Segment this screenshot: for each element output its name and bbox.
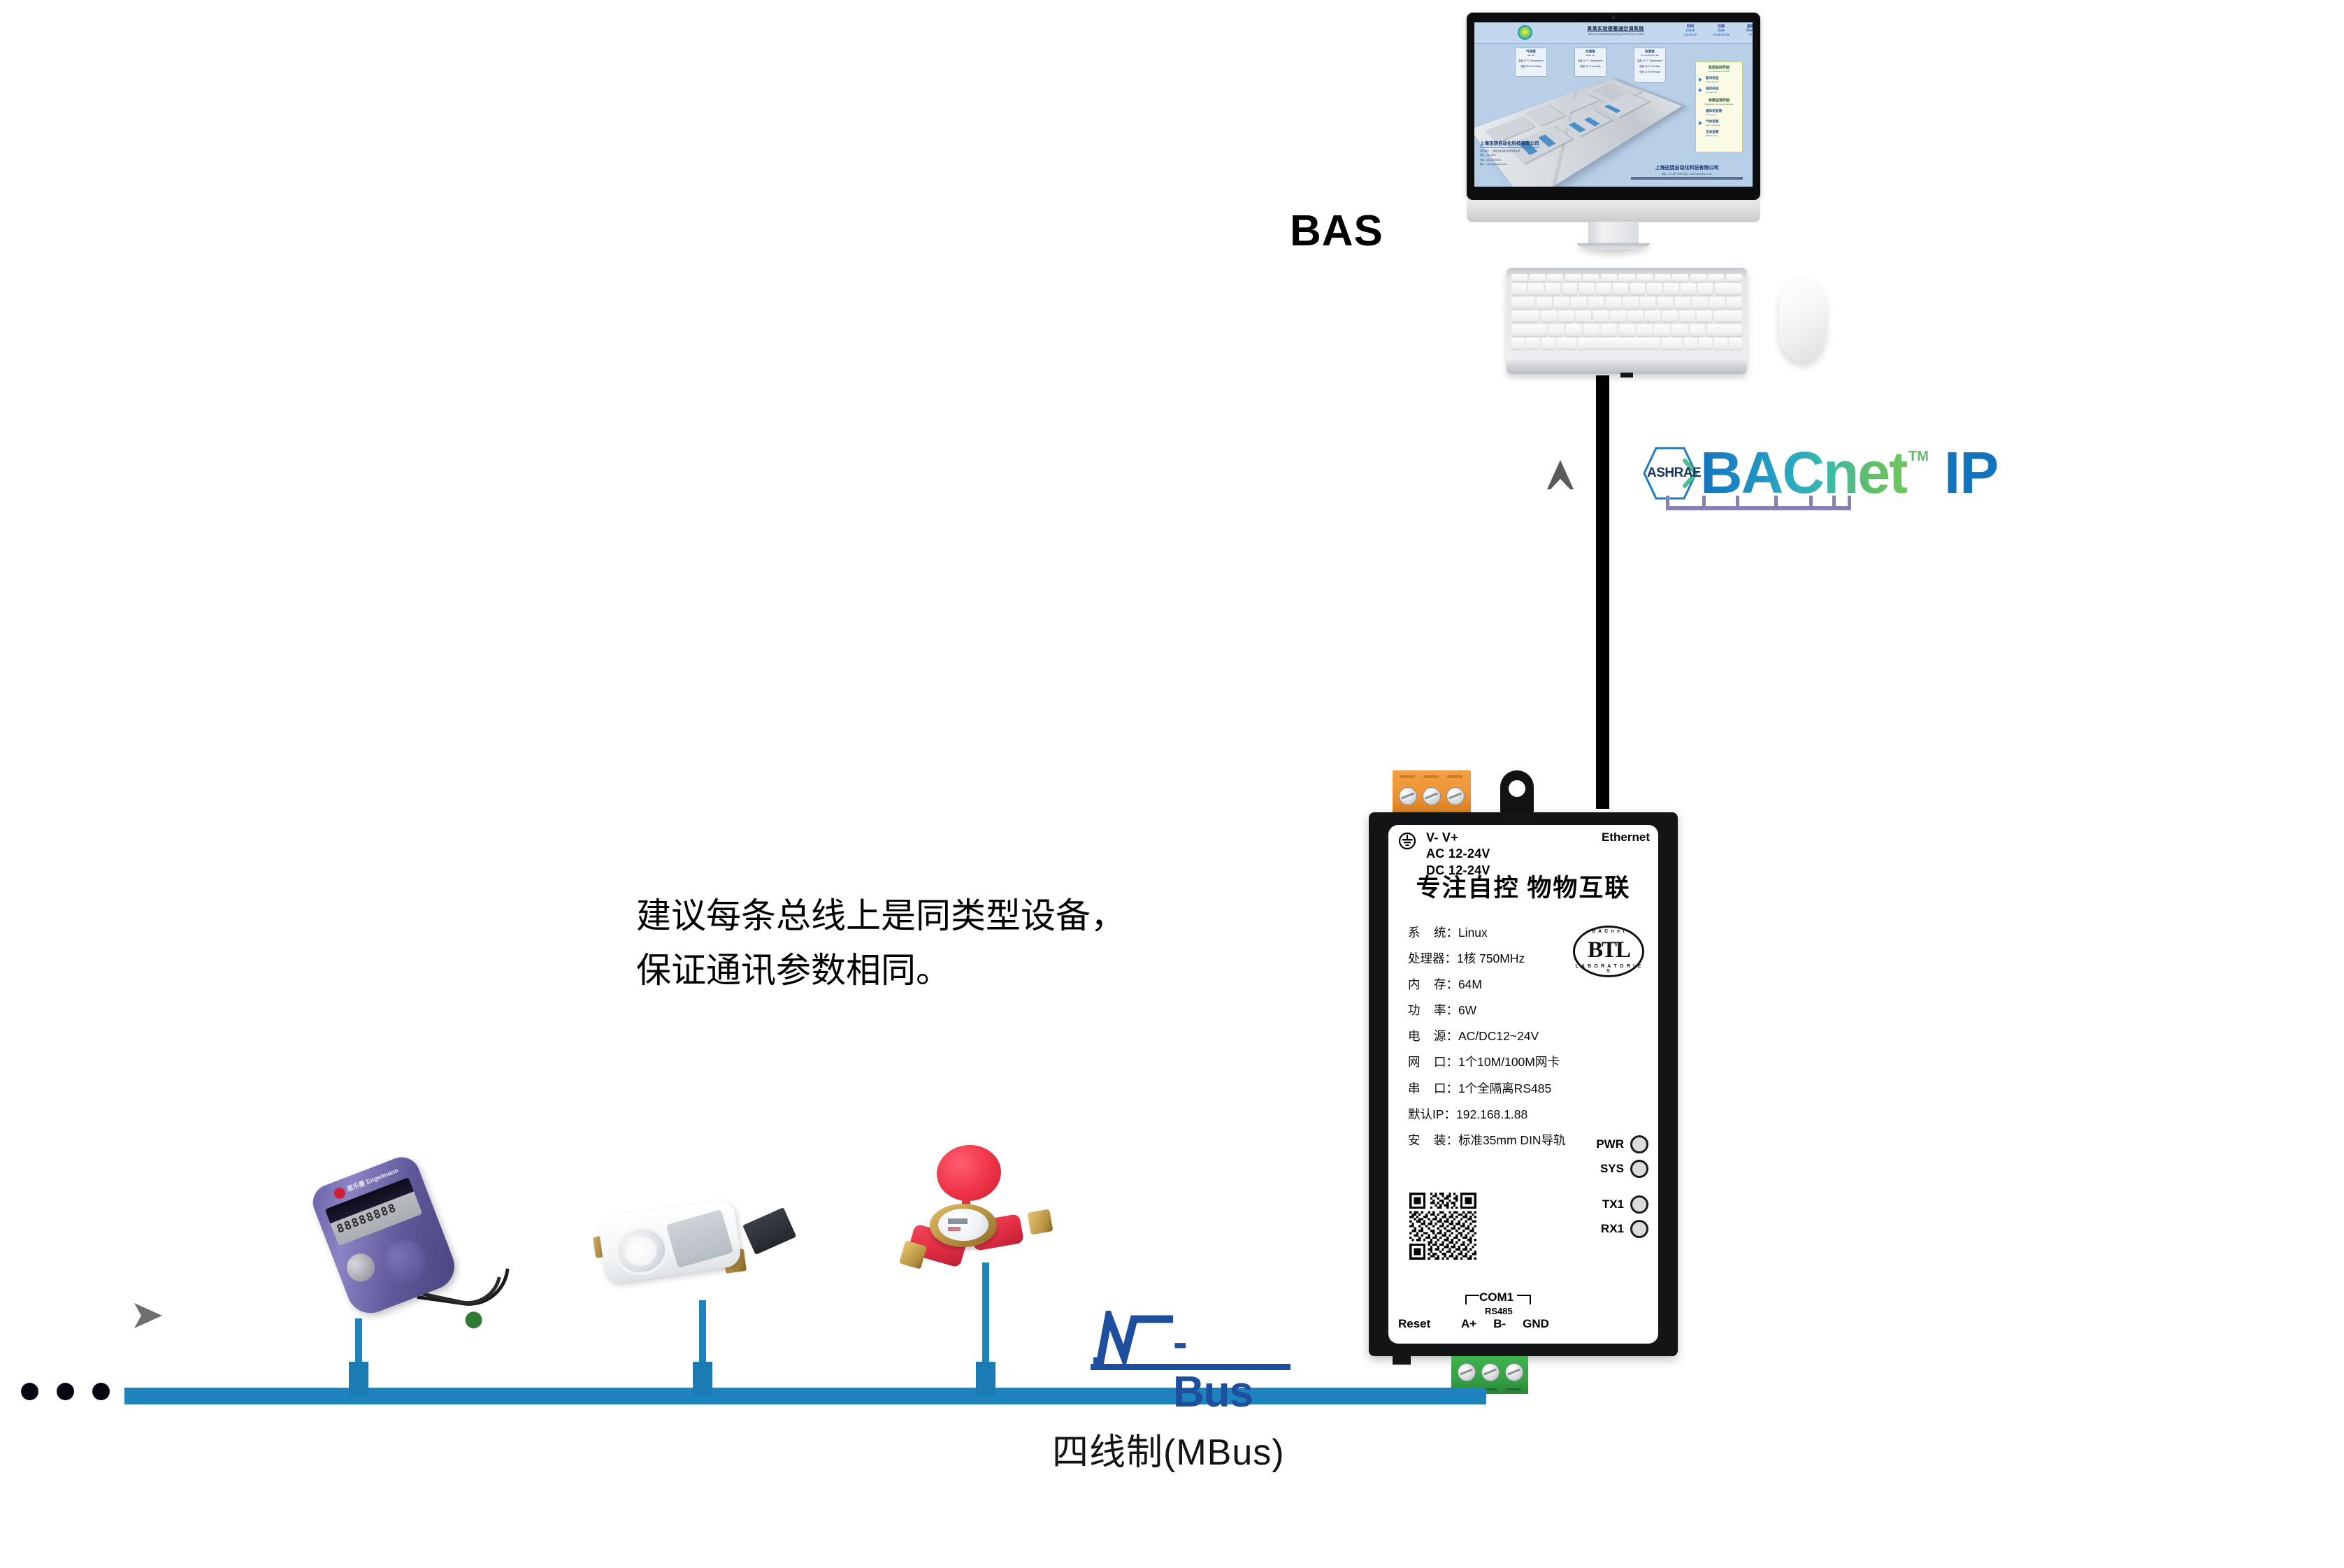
nav-item-sublabel: Baffles tanks	[1706, 134, 1742, 137]
sensor-box-reading: 温度 25 ℃ Temperature	[1516, 59, 1546, 62]
key[interactable]	[1671, 324, 1688, 336]
monitor-screen: 某某实验楼暖通空调系统 Nasn QC laboratory building …	[1474, 22, 1753, 187]
bus-continuation-ellipsis	[21, 1383, 110, 1400]
keyboard-row-shift[interactable]	[1511, 324, 1742, 336]
sensor-box-reading: 湿度 48 % Humidity	[1516, 64, 1546, 68]
nav-section-subtitle: Unit monitoring interface	[1696, 70, 1742, 73]
hmi-footer-line: 设计单位：上海迅饶自动化科技有限公司	[1480, 149, 1539, 152]
hmi-clock-week: 星期 Week 六	[1734, 24, 1753, 37]
terminal-screw-b[interactable]	[1481, 1363, 1500, 1381]
sensor-box-reading: 温度 25 ℃ Temperature	[1634, 59, 1665, 62]
water-meter-dial-face	[621, 1233, 661, 1270]
key[interactable]	[1726, 274, 1742, 282]
key[interactable]	[1545, 283, 1560, 295]
nav-item-fume-hood[interactable]: 通风柜监测 Fume hood	[1696, 109, 1742, 116]
key-arrow-updown[interactable]	[1714, 338, 1727, 350]
heat-meter-lcd-digits: 88888888	[335, 1201, 398, 1237]
heat-meter-button-green[interactable]	[463, 1309, 484, 1331]
key[interactable]	[1562, 283, 1578, 295]
btl-center-text: BTL	[1575, 937, 1642, 963]
key[interactable]	[1645, 310, 1660, 322]
key[interactable]	[1541, 310, 1557, 322]
bus-drop-water	[699, 1300, 706, 1370]
hmi-footer-left: 上海迅饶自动化科技有限公司 设计单位：上海迅饶自动化科技有限公司 电话：021-…	[1480, 139, 1539, 166]
hot-meter-brass-ring	[930, 1204, 997, 1247]
triangle-right-icon	[1699, 88, 1702, 92]
led-label-pwr: PWR	[1596, 1137, 1624, 1151]
key-shift-right[interactable]	[1707, 324, 1742, 336]
gateway-enclosure: V- V+ AC 12-24V DC 12-24V Ethernet 专注自控 …	[1369, 812, 1678, 1356]
hmi-clock-value: 14:30:33	[1674, 33, 1706, 36]
key[interactable]	[1681, 283, 1696, 295]
key[interactable]	[1690, 274, 1706, 282]
triangle-right-icon	[1699, 78, 1702, 82]
key[interactable]	[1571, 297, 1586, 309]
hmi-sensor-box-chroma: 色谱室 Chromatograph lab 温度 25 ℃ Temperatur…	[1634, 48, 1666, 82]
key[interactable]	[1658, 297, 1673, 309]
key[interactable]	[1709, 297, 1725, 309]
key[interactable]	[1554, 297, 1569, 309]
mbus-underline	[1091, 1364, 1290, 1370]
key[interactable]	[1565, 274, 1581, 282]
sensor-box-sub: Chromatograph lab	[1634, 54, 1665, 57]
key[interactable]	[1708, 274, 1724, 282]
ashrae-label: ASHRAE	[1647, 466, 1701, 481]
sensor-box-sub: Water lab	[1575, 54, 1606, 57]
heat-meter-brand-icon	[333, 1186, 347, 1201]
sensor-box-reading: 压差 10 Pa Pressure	[1634, 70, 1665, 73]
led-label-rx1: RX1	[1601, 1222, 1624, 1236]
led-indicator-pwr	[1630, 1135, 1648, 1153]
mbus-bus-line	[124, 1388, 1486, 1404]
key[interactable]	[1511, 274, 1527, 282]
webcam-icon	[1612, 16, 1615, 19]
key[interactable]	[1593, 310, 1609, 322]
keyboard-row-numbers[interactable]	[1511, 283, 1742, 295]
terminal-screw[interactable]	[1399, 787, 1417, 805]
key[interactable]	[1583, 274, 1599, 282]
monitor-chin	[1467, 200, 1760, 222]
hmi-date-cn: 日期	[1705, 24, 1737, 29]
nav-item-fresh-air-unit[interactable]: 新风机组 Fresh air unit	[1696, 76, 1742, 83]
bus-tee-heat	[349, 1362, 368, 1395]
uplink-arrow-notch	[1550, 479, 1571, 490]
com1-label: COM1	[1479, 1290, 1513, 1304]
qr-code	[1409, 1193, 1476, 1260]
bus-tee-water	[693, 1362, 712, 1395]
hmi-company-name-right: 上海迅饶自动化科技有限公司	[1631, 164, 1743, 171]
terminal-screw[interactable]	[1423, 787, 1441, 805]
hmi-header: 某某实验楼暖通空调系统 Nasn QC laboratory building …	[1474, 22, 1753, 44]
key[interactable]	[1596, 283, 1611, 295]
key[interactable]	[1690, 324, 1706, 336]
key-capslock[interactable]	[1511, 310, 1539, 322]
ashrae-hexagon-icon: ASHRAE	[1643, 445, 1697, 501]
din-rail-clip	[1393, 1356, 1411, 1365]
hmi-subtitle: Nasn QC laboratory building of China HVA…	[1560, 33, 1673, 36]
nav-item-sublabel: Fresh air unit	[1706, 80, 1742, 83]
nav-item-gas-monitoring[interactable]: 气体监测 Gas monitoring	[1696, 120, 1742, 127]
keyboard[interactable]	[1507, 268, 1747, 374]
key[interactable]	[1692, 297, 1707, 309]
hmi-footer-line: 网址：www.opcmaster.com	[1480, 162, 1539, 166]
key[interactable]	[1664, 283, 1679, 295]
gateway-spec-list: 系 统：Linux 处理器：1核 750MHz 内 存：64M 功 率：6W 电…	[1408, 920, 1566, 1153]
mbus-logo: -Bus	[1091, 1311, 1176, 1362]
key-option-right[interactable]	[1684, 338, 1697, 350]
key[interactable]	[1637, 274, 1653, 282]
hmi-week-value: 六	[1734, 33, 1753, 37]
key[interactable]	[1579, 283, 1595, 295]
key[interactable]	[1583, 324, 1599, 336]
hmi-title: 某某实验楼暖通空调系统	[1567, 25, 1664, 32]
rs485-label: RS485	[1485, 1306, 1513, 1316]
power-terminal-block[interactable]	[1393, 770, 1471, 814]
led-row-rx1: RX1	[1601, 1220, 1648, 1238]
terminal-screw-a[interactable]	[1458, 1363, 1476, 1381]
mbus-m-glyph-icon	[1091, 1311, 1176, 1362]
bacnet-gateway-device: V- V+ AC 12-24V DC 12-24V Ethernet 专注自控 …	[1369, 761, 1718, 1404]
nav-section2-subtitle: Parameter monitoring interface	[1696, 103, 1742, 106]
key-return[interactable]	[1714, 310, 1742, 322]
sensor-box-reading: 湿度 46 % Humidity	[1575, 64, 1606, 68]
hot-meter-inlet-nut	[899, 1240, 927, 1269]
led-indicator-rx1	[1630, 1220, 1648, 1238]
key-tab[interactable]	[1511, 297, 1534, 309]
key-command-left[interactable]	[1556, 338, 1576, 350]
hmi-footer-line: 电话：021-5872	[1480, 153, 1539, 157]
bas-label: BAS	[1290, 206, 1383, 256]
bus-type-caption: 四线制(MBus)	[1052, 1423, 1285, 1475]
sensor-box-sub: Gas lab	[1516, 54, 1546, 57]
sensor-box-reading: 湿度 45 % Humidity	[1634, 64, 1665, 68]
led-label-tx1: TX1	[1602, 1197, 1624, 1211]
btl-ring-bottom-text: L A B O R A T O R I E S	[1575, 964, 1642, 974]
bacnet-wordmark: BACnet	[1700, 445, 1907, 501]
led-indicator-tx1	[1630, 1195, 1648, 1214]
gateway-faceplate: V- V+ AC 12-24V DC 12-24V Ethernet 专注自控 …	[1388, 825, 1658, 1344]
hot-meter-cap[interactable]	[934, 1142, 1004, 1204]
key[interactable]	[1727, 297, 1742, 309]
key-space[interactable]	[1578, 338, 1660, 350]
terminal-screw-gnd[interactable]	[1505, 1363, 1523, 1381]
hmi-date-value: 2016-03-05	[1705, 33, 1737, 36]
hmi-sensor-box-water: 水质室 Water lab 温度 25 ℃ Temperature 湿度 46 …	[1574, 48, 1606, 77]
water-meter-lcd	[742, 1207, 796, 1255]
key-shift-left[interactable]	[1511, 324, 1546, 336]
key[interactable]	[1655, 274, 1671, 282]
key[interactable]	[1637, 324, 1653, 336]
keyboard-row-qwerty[interactable]	[1511, 297, 1742, 309]
key[interactable]	[1697, 310, 1712, 322]
heat-meter-button-grey[interactable]	[343, 1249, 379, 1286]
btl-certification-logo: · B A C n e t · BTL L A B O R A T O R I …	[1573, 926, 1644, 977]
terminal-screw[interactable]	[1446, 787, 1465, 805]
ellipsis-dot	[21, 1383, 38, 1400]
key[interactable]	[1627, 310, 1643, 322]
status-led-group-power: PWR SYS	[1596, 1135, 1648, 1184]
hmi-navigation-panel[interactable]: 机组监控界面 Unit monitoring interface 新风机组 Fr…	[1695, 62, 1743, 152]
hmi-clock-cn: 时间	[1674, 24, 1706, 29]
key-command-right[interactable]	[1662, 338, 1683, 350]
key[interactable]	[1640, 297, 1655, 309]
bacnet-ip-suffix: IP	[1944, 439, 1998, 507]
pin-label-a: A+	[1461, 1317, 1476, 1331]
smart-water-meter-device	[596, 1200, 749, 1304]
monitor-stand-base	[1577, 243, 1650, 252]
bacnet-logo-rail	[1666, 506, 1851, 510]
key[interactable]	[1530, 274, 1546, 282]
nav-item-sublabel: Gas monitoring	[1706, 124, 1742, 127]
led-row-sys: SYS	[1596, 1160, 1648, 1178]
water-meter-lcd-frame	[666, 1209, 733, 1268]
key-fn[interactable]	[1511, 338, 1525, 350]
hmi-sensor-box-gas: 气体室 Gas lab 温度 25 ℃ Temperature 湿度 48 % …	[1515, 48, 1547, 77]
hmi-footer-right: 上海迅饶自动化科技有限公司 电话：021-58776060 网址：www.bac…	[1631, 164, 1743, 180]
mouse[interactable]	[1779, 278, 1826, 362]
key[interactable]	[1618, 274, 1634, 282]
key[interactable]	[1679, 310, 1695, 322]
nav-item-clean-monitoring[interactable]: 洁净监测 Baffles tanks	[1696, 130, 1742, 137]
key[interactable]	[1675, 297, 1690, 309]
key[interactable]	[1547, 274, 1563, 282]
nav-section-title: 机组监控界面	[1696, 65, 1742, 70]
design-note-text: 建议每条总线上是同类型设备， 保证通讯参数相同。	[636, 889, 1126, 998]
keyboard-usb-port	[1620, 373, 1633, 377]
key[interactable]	[1576, 310, 1591, 322]
nav-item-sublabel: Fume hood	[1706, 113, 1742, 116]
bacnet-ip-logo: ASHRAE BACnet TM IP	[1643, 439, 1998, 507]
heat-meter-device: 恩乐曼 Engelmann 88888888	[316, 1160, 463, 1321]
key[interactable]	[1619, 324, 1635, 336]
gateway-bottom-labels: Reset COM1 RS485 A+ B- GND	[1388, 1292, 1658, 1332]
key[interactable]	[1630, 283, 1646, 295]
key[interactable]	[1647, 283, 1662, 295]
keyboard-row-bottom[interactable]	[1511, 338, 1742, 350]
keyboard-row-function[interactable]	[1511, 274, 1742, 282]
hmi-clock-time: 时间 Clock 14:30:33	[1674, 24, 1706, 36]
cursor-arrow-icon	[133, 1302, 164, 1333]
key[interactable]	[1654, 324, 1670, 336]
hmi-logo-icon	[1518, 25, 1532, 40]
led-row-pwr: PWR	[1596, 1135, 1648, 1153]
gateway-slogan: 专注自控 物物互联	[1388, 868, 1658, 904]
trademark-symbol: TM	[1908, 449, 1929, 465]
water-meter-dial	[610, 1221, 674, 1281]
key-arrow-left[interactable]	[1699, 338, 1712, 350]
sensor-box-reading: 温度 25 ℃ Temperature	[1575, 59, 1606, 62]
led-indicator-sys	[1630, 1160, 1648, 1178]
ellipsis-dot	[92, 1383, 110, 1400]
key-control[interactable]	[1526, 338, 1539, 350]
btl-ring-top-text: · B A C n e t ·	[1575, 929, 1642, 934]
hmi-week-cn: 星期	[1734, 24, 1753, 29]
heat-meter-disc	[376, 1234, 432, 1290]
key[interactable]	[1662, 310, 1678, 322]
triangle-right-icon	[1699, 121, 1702, 125]
hot-meter-outlet-nut	[1027, 1209, 1053, 1235]
key[interactable]	[1601, 324, 1617, 336]
nav-section2-title: 参数监测界面	[1696, 98, 1742, 103]
ground-icon	[1398, 832, 1416, 850]
key[interactable]	[1537, 297, 1552, 309]
hmi-company-name: 上海迅饶自动化科技有限公司	[1480, 139, 1539, 148]
ellipsis-dot	[57, 1383, 74, 1400]
nav-item-exhaust-fan[interactable]: 排风机组 Exhaust fan	[1696, 87, 1742, 94]
bas-workstation-monitor: 某某实验楼暖通空调系统 Nasn QC laboratory building …	[1467, 13, 1760, 257]
com1-pin-labels: A+ B- GND	[1461, 1317, 1549, 1331]
key[interactable]	[1528, 283, 1544, 295]
din-mount-hole	[1500, 770, 1534, 814]
key[interactable]	[1548, 324, 1565, 336]
key[interactable]	[1606, 297, 1621, 309]
key-arrow-right[interactable]	[1729, 338, 1742, 350]
key[interactable]	[1613, 283, 1628, 295]
key[interactable]	[1588, 297, 1604, 309]
pin-label-b: B-	[1493, 1317, 1506, 1331]
key[interactable]	[1672, 274, 1688, 282]
hmi-footer-line: 传真：021-58753700	[1480, 158, 1539, 161]
keyboard-row-home[interactable]	[1511, 310, 1742, 322]
key[interactable]	[1558, 310, 1574, 322]
hot-meter-dial-glass	[938, 1209, 988, 1241]
hmi-footer-contact: 电话：021-58776060 网址：www.bacnetchina.com	[1631, 172, 1743, 175]
key-backspace[interactable]	[1715, 283, 1742, 295]
led-row-tx1: TX1	[1601, 1195, 1648, 1214]
key[interactable]	[1623, 297, 1638, 309]
key[interactable]	[1511, 283, 1527, 295]
reset-button-label[interactable]: Reset	[1398, 1317, 1430, 1331]
ethernet-cable	[1596, 375, 1609, 809]
key[interactable]	[1601, 274, 1617, 282]
hmi-clock-date: 日期 Date 2016-03-05	[1705, 24, 1737, 36]
status-led-group-serial: TX1 RX1	[1601, 1195, 1648, 1244]
water-meter-body	[597, 1199, 742, 1284]
ethernet-port-label: Ethernet	[1602, 830, 1650, 844]
key[interactable]	[1610, 310, 1625, 322]
nav-item-sublabel: Exhaust fan	[1706, 91, 1742, 94]
hot-water-meter-device	[907, 1144, 1047, 1311]
monitor-bezel: 某某实验楼暖通空调系统 Nasn QC laboratory building …	[1467, 13, 1760, 200]
pin-label-gnd: GND	[1523, 1317, 1549, 1331]
key-option[interactable]	[1541, 338, 1555, 350]
hmi-footer-bar	[1631, 177, 1743, 180]
led-label-sys: SYS	[1600, 1162, 1624, 1176]
key[interactable]	[1566, 324, 1582, 336]
key[interactable]	[1697, 283, 1713, 295]
bus-tee-hot	[976, 1362, 995, 1395]
